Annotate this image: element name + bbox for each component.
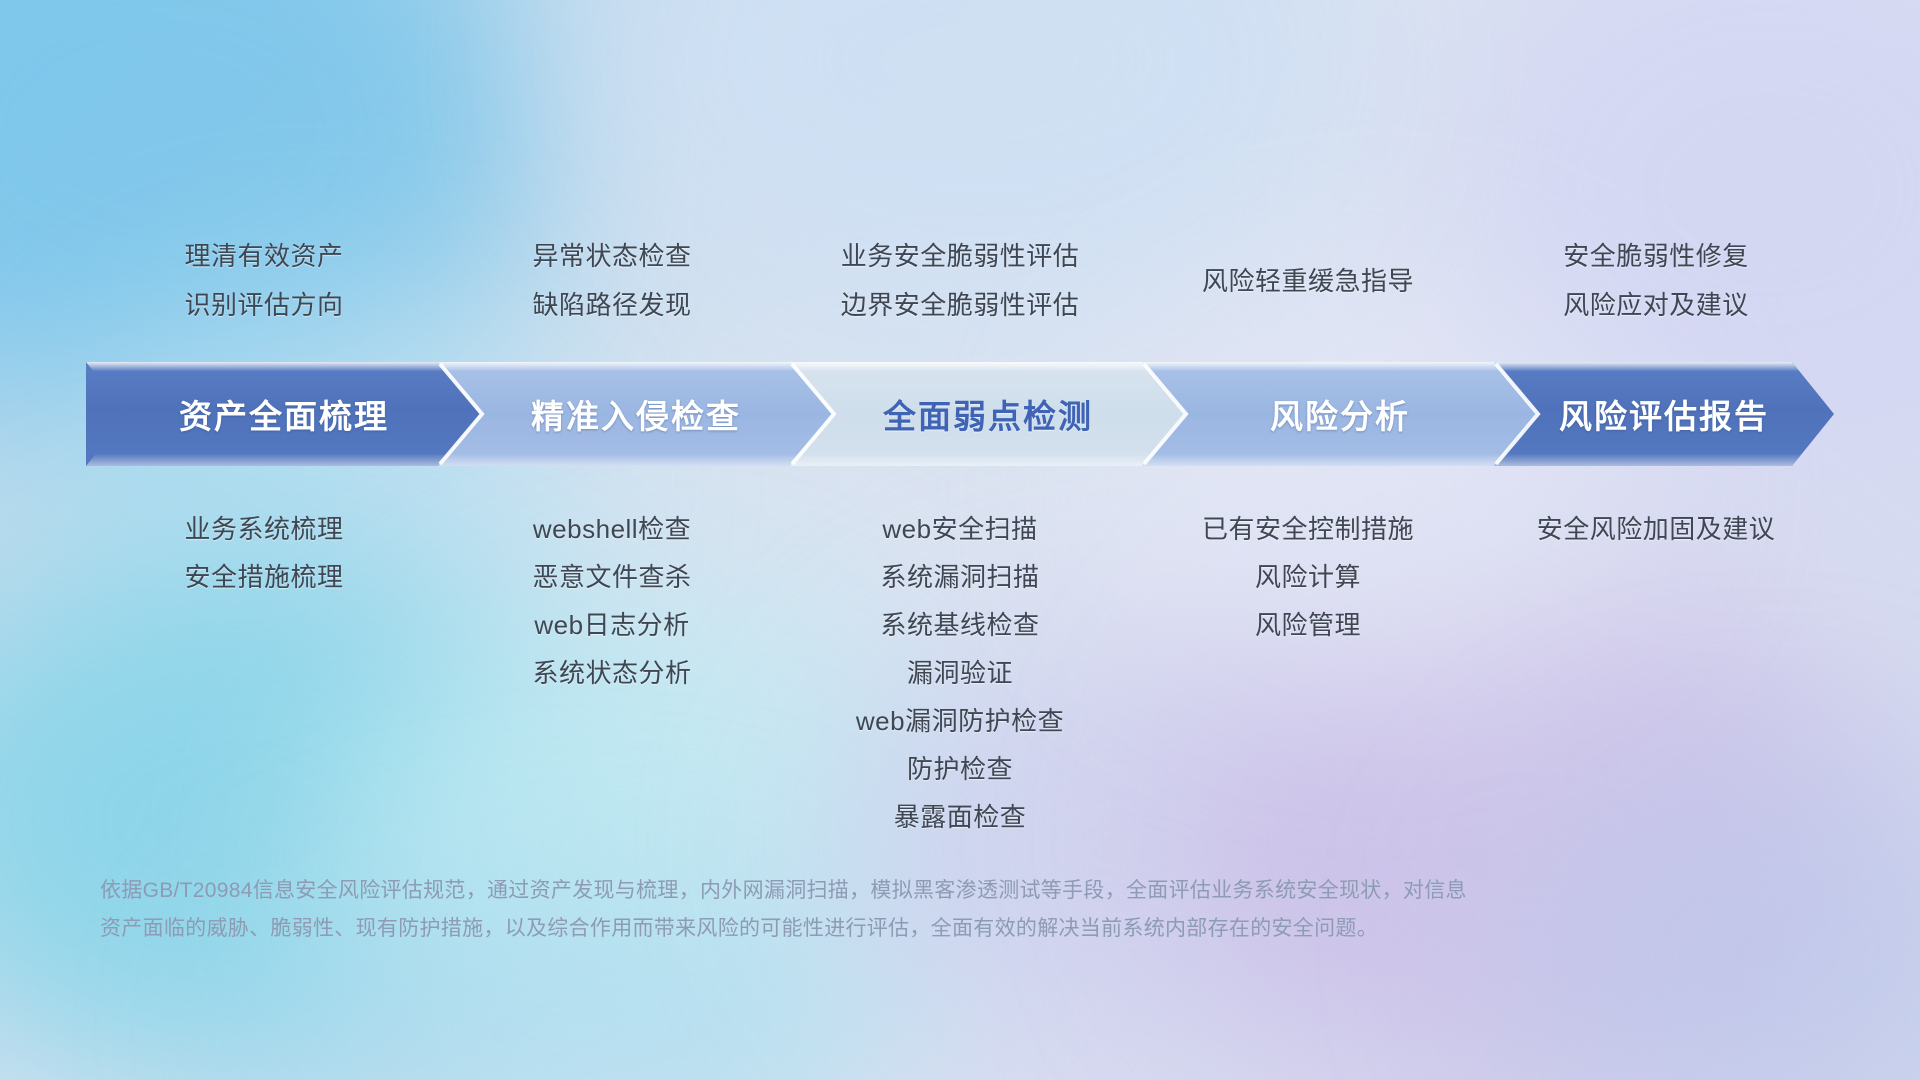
- outcome-label: 风险应对及建议: [1563, 281, 1749, 330]
- task-item: web安全扫描: [882, 505, 1037, 553]
- task-item: web日志分析: [534, 601, 689, 649]
- task-item: 系统基线检查: [880, 601, 1039, 649]
- task-item: 暴露面检查: [894, 793, 1027, 841]
- stage-title: 精准入侵检查: [531, 390, 741, 438]
- outcome-label: 边界安全脆弱性评估: [841, 281, 1080, 330]
- outcome-label: 安全脆弱性修复: [1563, 232, 1749, 281]
- task-column-2: webshell检查 恶意文件查杀 web日志分析 系统状态分析: [438, 505, 786, 697]
- task-item: 防护检查: [907, 745, 1013, 793]
- outcome-label: 识别评估方向: [184, 281, 343, 330]
- task-item: 风险计算: [1255, 553, 1361, 601]
- task-item: 已有安全控制措施: [1202, 505, 1414, 553]
- outcome-column-3: 业务安全脆弱性评估 边界安全脆弱性评估: [786, 232, 1134, 342]
- footer-line-2: 资产面临的威胁、脆弱性、现有防护措施，以及综合作用而带来风险的可能性进行评估，全…: [100, 910, 1620, 948]
- stage-title: 风险评估报告: [1559, 390, 1769, 438]
- stage-chevron-2[interactable]: 精准入侵检查: [438, 362, 834, 466]
- outcome-label: 业务安全脆弱性评估: [841, 232, 1080, 281]
- stage-chevron-3[interactable]: 全面弱点检测: [790, 362, 1186, 466]
- outcome-column-5: 安全脆弱性修复 风险应对及建议: [1482, 232, 1830, 342]
- task-column-4: 已有安全控制措施 风险计算 风险管理: [1134, 505, 1482, 649]
- footer-line-1: 依据GB/T20984信息安全风险评估规范，通过资产发现与梳理，内外网漏洞扫描，…: [100, 872, 1620, 910]
- task-item: web漏洞防护检查: [856, 697, 1064, 745]
- outcome-label: 风险轻重缓急指导: [1202, 257, 1414, 306]
- stage-title: 资产全面梳理: [179, 390, 389, 438]
- task-column-1: 业务系统梳理 安全措施梳理: [90, 505, 438, 601]
- outcome-column-4: 风险轻重缓急指导: [1134, 232, 1482, 342]
- stage-title: 风险分析: [1270, 390, 1410, 438]
- task-list-row: 业务系统梳理 安全措施梳理 webshell检查 恶意文件查杀 web日志分析 …: [90, 505, 1830, 841]
- task-item: 恶意文件查杀: [532, 553, 691, 601]
- stage-chevron-5[interactable]: 风险评估报告: [1494, 362, 1834, 466]
- task-item: 安全风险加固及建议: [1537, 505, 1776, 553]
- infographic-canvas: 理清有效资产 识别评估方向 异常状态检查 缺陷路径发现 业务安全脆弱性评估 边界…: [0, 0, 1920, 1080]
- outcome-label: 理清有效资产: [184, 232, 343, 281]
- footer-description: 依据GB/T20984信息安全风险评估规范，通过资产发现与梳理，内外网漏洞扫描，…: [100, 872, 1620, 948]
- task-item: 系统漏洞扫描: [880, 553, 1039, 601]
- task-column-5: 安全风险加固及建议: [1482, 505, 1830, 553]
- outcome-label-row: 理清有效资产 识别评估方向 异常状态检查 缺陷路径发现 业务安全脆弱性评估 边界…: [90, 232, 1830, 342]
- stage-chevron-1[interactable]: 资产全面梳理: [86, 362, 482, 466]
- task-item: 漏洞验证: [907, 649, 1013, 697]
- stage-chevron-4[interactable]: 风险分析: [1142, 362, 1538, 466]
- task-item: webshell检查: [533, 505, 691, 553]
- process-chevron-band: 资产全面梳理 精准入侵检查 全面弱点检测 风险分析 风险评估报告: [86, 362, 1834, 466]
- task-item: 系统状态分析: [532, 649, 691, 697]
- task-column-3: web安全扫描 系统漏洞扫描 系统基线检查 漏洞验证 web漏洞防护检查 防护检…: [786, 505, 1134, 841]
- task-item: 业务系统梳理: [184, 505, 343, 553]
- outcome-label: 异常状态检查: [532, 232, 691, 281]
- task-item: 风险管理: [1255, 601, 1361, 649]
- stage-title: 全面弱点检测: [883, 390, 1093, 438]
- outcome-label: 缺陷路径发现: [532, 281, 691, 330]
- outcome-column-2: 异常状态检查 缺陷路径发现: [438, 232, 786, 342]
- outcome-column-1: 理清有效资产 识别评估方向: [90, 232, 438, 342]
- task-item: 安全措施梳理: [184, 553, 343, 601]
